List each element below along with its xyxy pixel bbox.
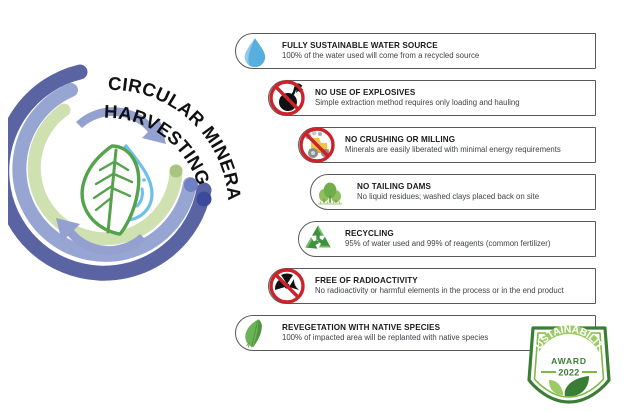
benefit-card-title: FREE OF RADIOACTIVITY xyxy=(315,276,564,285)
benefit-card-subtitle: 100% of the water used will come from a … xyxy=(282,52,479,61)
water-droplet-icon xyxy=(238,34,272,68)
trees-icon xyxy=(313,175,347,209)
benefit-card[interactable]: NO TAILING DAMSNo liquid residues; washe… xyxy=(310,174,596,210)
benefit-card-subtitle: Simple extraction method requires only l… xyxy=(315,99,520,108)
benefit-card-title: NO USE OF EXPLOSIVES xyxy=(315,88,520,97)
benefit-card-title: RECYCLING xyxy=(345,229,550,238)
benefit-card-text: NO TAILING DAMSNo liquid residues; washe… xyxy=(357,182,545,201)
benefit-card-title: REVEGETATION WITH NATIVE SPECIES xyxy=(282,323,488,332)
benefit-card-title: FULLY SUSTAINABLE WATER SOURCE xyxy=(282,41,479,50)
benefit-card-subtitle: 100% of impacted area will be replanted … xyxy=(282,334,488,343)
benefit-card[interactable]: FREE OF RADIOACTIVITYNo radioactivity or… xyxy=(268,268,596,304)
benefit-card[interactable]: NO CRUSHING OR MILLINGMinerals are easil… xyxy=(298,127,596,163)
benefit-card-text: FULLY SUSTAINABLE WATER SOURCE100% of th… xyxy=(282,41,485,60)
benefit-card[interactable]: RECYCLING95% of water used and 99% of re… xyxy=(298,221,596,257)
benefit-card-subtitle: No liquid residues; washed clays placed … xyxy=(357,193,539,202)
no-crushing-icon xyxy=(297,125,337,165)
benefit-card-text: NO USE OF EXPLOSIVESSimple extraction me… xyxy=(315,88,526,107)
benefit-card-subtitle: Minerals are easily liberated with minim… xyxy=(345,146,561,155)
sustainability-award-badge: SUSTAINABILITY AWARD 2022 xyxy=(523,318,615,406)
benefit-card-title: NO TAILING DAMS xyxy=(357,182,539,191)
badge-year: 2022 xyxy=(558,368,579,378)
leaf-icon xyxy=(238,316,272,350)
benefit-card-text: REVEGETATION WITH NATIVE SPECIES100% of … xyxy=(282,323,494,342)
benefit-card-text: RECYCLING95% of water used and 99% of re… xyxy=(345,229,556,248)
badge-award-label: AWARD xyxy=(551,356,587,366)
benefit-card[interactable]: NO USE OF EXPLOSIVESSimple extraction me… xyxy=(268,80,596,116)
benefit-card-subtitle: 95% of water used and 99% of reagents (c… xyxy=(345,240,550,249)
benefit-card-title: NO CRUSHING OR MILLING xyxy=(345,135,561,144)
no-explosives-icon xyxy=(267,78,307,118)
recycling-icon xyxy=(301,222,335,256)
infographic-root: CIRCULAR MINERAL HARVESTING FULLY SUSTAI… xyxy=(0,0,632,411)
no-radioactivity-icon xyxy=(267,266,307,306)
benefit-card[interactable]: FULLY SUSTAINABLE WATER SOURCE100% of th… xyxy=(235,33,596,69)
benefit-card-text: FREE OF RADIOACTIVITYNo radioactivity or… xyxy=(315,276,570,295)
benefit-card-text: NO CRUSHING OR MILLINGMinerals are easil… xyxy=(345,135,567,154)
benefit-card-subtitle: No radioactivity or harmful elements in … xyxy=(315,287,564,296)
